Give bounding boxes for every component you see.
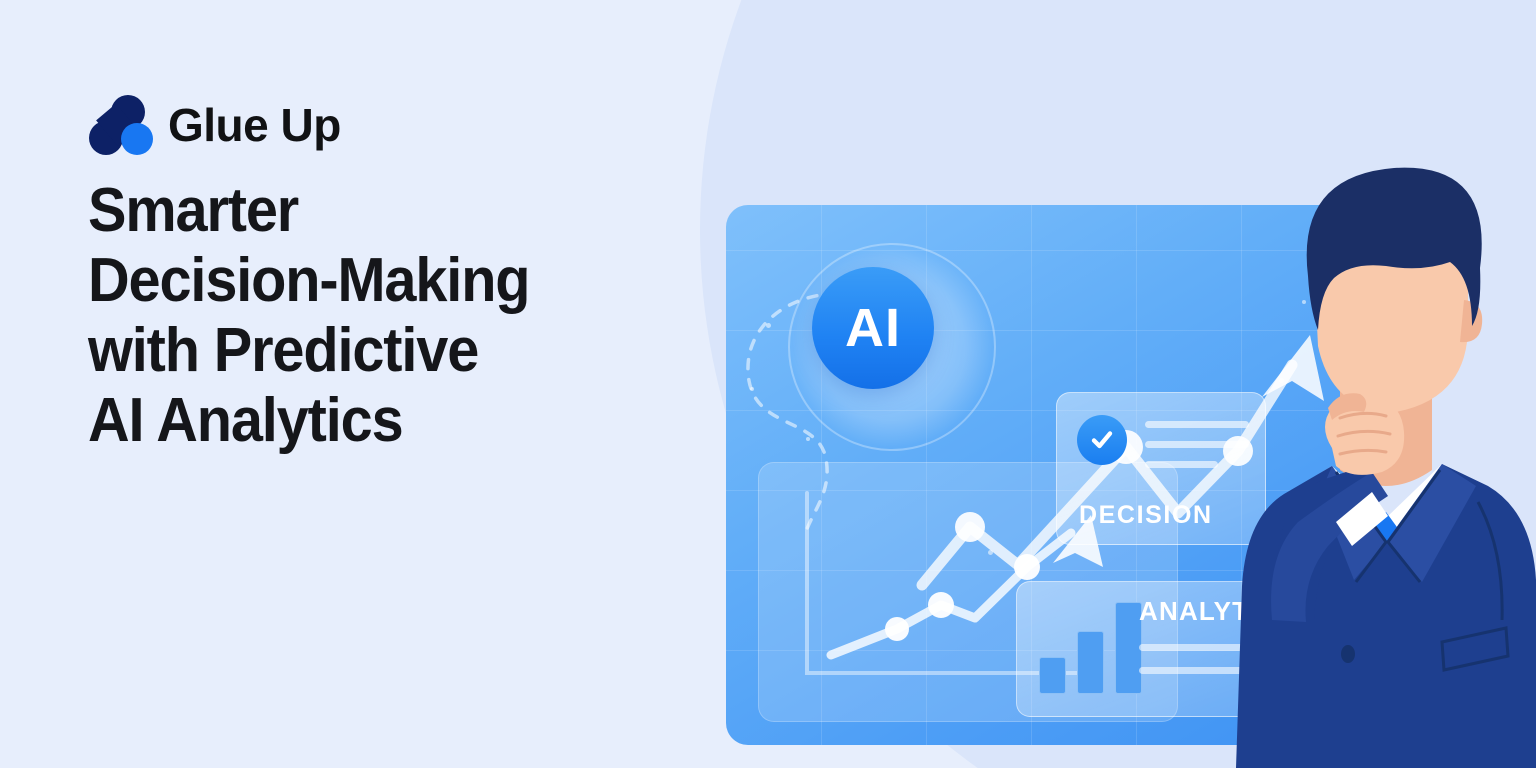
bar-3 (1115, 602, 1142, 694)
text-column: Glue Up Smarter Decision-Making with Pre… (88, 92, 728, 456)
headline-line-4: AI Analytics (88, 386, 683, 456)
placeholder-line (1145, 421, 1249, 428)
headline-line-3: with Predictive (88, 316, 683, 386)
decision-placeholder-lines (1145, 421, 1249, 481)
brand-name: Glue Up (168, 102, 341, 148)
decision-card-title: DECISION (1079, 503, 1213, 528)
decision-card[interactable]: DECISION (1056, 392, 1266, 545)
placeholder-line (1145, 441, 1249, 448)
brand-logo: Glue Up (88, 92, 728, 158)
glueup-molecule-icon (88, 94, 154, 156)
check-circle-icon (1077, 415, 1127, 465)
bar-chart-icon (1039, 602, 1142, 694)
placeholder-line (1145, 461, 1218, 468)
bar-1 (1039, 657, 1066, 694)
page-title: Smarter Decision-Making with Predictive … (88, 176, 683, 456)
bar-2 (1077, 631, 1104, 694)
marketing-banner: Glue Up Smarter Decision-Making with Pre… (0, 0, 1536, 768)
headline-line-1: Smarter (88, 176, 683, 246)
headline-line-2: Decision-Making (88, 246, 683, 316)
thinking-businessman-illustration (1236, 150, 1536, 768)
